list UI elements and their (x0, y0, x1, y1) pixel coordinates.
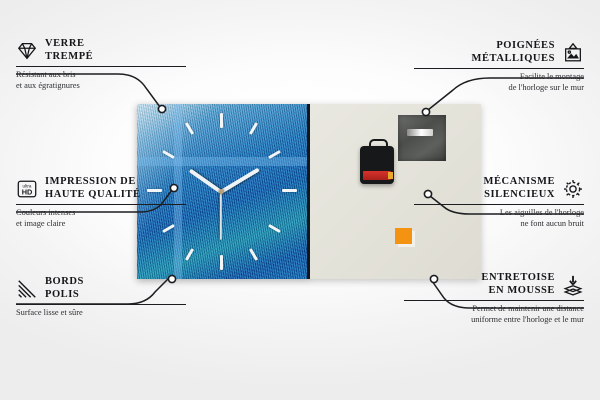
clock-tick (185, 248, 194, 261)
feature-bords-polis[interactable]: BORDS POLIS Surface lisse et sûre (16, 276, 186, 319)
divider (16, 66, 186, 67)
feature-title-line1: ENTRETOISE (481, 272, 555, 285)
hanger-slot (407, 129, 433, 136)
feature-title: ENTRETOISE EN MOUSSE (481, 272, 555, 297)
diamond-icon (16, 40, 38, 62)
feature-mecanisme-silencieux[interactable]: MÉCANISME SILENCIEUX Les aiguilles de l'… (414, 176, 584, 229)
feature-desc-line2: de l'horloge sur le mur (414, 83, 584, 93)
feature-header: BORDS POLIS (16, 276, 186, 301)
feature-title: VERRE TREMPÉ (45, 38, 93, 63)
feature-desc-line1: Permet de maintenir une distance (404, 304, 584, 314)
clock-tick (249, 248, 258, 261)
feature-title-line2: TREMPÉ (45, 51, 93, 64)
feature-description: Les aiguilles de l'horloge ne font aucun… (414, 208, 584, 229)
feature-title-line1: MÉCANISME (484, 176, 555, 189)
feature-desc-line2: et image claire (16, 219, 186, 229)
feature-verre-trempe[interactable]: VERRE TREMPÉ Résistant aux bris et aux é… (16, 38, 186, 91)
feature-title-line2: MÉTALLIQUES (472, 53, 555, 66)
polished-edge-icon (16, 278, 38, 300)
clock-tick (249, 122, 258, 135)
infographic-canvas: VERRE TREMPÉ Résistant aux bris et aux é… (0, 0, 600, 400)
feature-entretoise-mousse[interactable]: ENTRETOISE EN MOUSSE Permet de maintenir… (404, 272, 584, 325)
feature-desc-line2: ne font aucun bruit (414, 219, 584, 229)
feature-header: ultra HD IMPRESSION DE HAUTE QUALITÉ (16, 176, 186, 201)
feature-title: BORDS POLIS (45, 276, 84, 301)
foam-spacer (395, 228, 412, 244)
feature-description: Couleurs intenses et image claire (16, 208, 186, 229)
feature-desc-line2: et aux égratignures (16, 81, 186, 91)
feature-title-line2: POLIS (45, 289, 84, 302)
feature-desc-line1: Couleurs intenses (16, 208, 186, 218)
clock-tick (162, 150, 175, 159)
feature-description: Surface lisse et sûre (16, 308, 186, 318)
feature-title-line1: POIGNÉES (472, 40, 555, 53)
movement-hook (369, 139, 388, 150)
clock-tick (268, 150, 281, 159)
feature-title: MÉCANISME SILENCIEUX (484, 176, 555, 201)
feature-desc-line1: Surface lisse et sûre (16, 308, 186, 318)
clock-hand-minute (220, 168, 260, 194)
feature-desc-line1: Les aiguilles de l'horloge (414, 208, 584, 218)
feature-description: Résistant aux bris et aux égratignures (16, 70, 186, 91)
feature-description: Permet de maintenir une distance uniform… (404, 304, 584, 325)
wall-frame-icon (562, 42, 584, 64)
battery (363, 171, 391, 180)
clock-tick (268, 224, 281, 233)
feature-header: MÉCANISME SILENCIEUX (414, 176, 584, 201)
clock-tick (282, 189, 297, 192)
feature-desc-line1: Facilite le montage (414, 72, 584, 82)
clock-tick (220, 113, 223, 128)
metal-hanger-plate (398, 115, 446, 161)
feature-header: ENTRETOISE EN MOUSSE (404, 272, 584, 297)
gear-icon (562, 178, 584, 200)
divider (414, 68, 584, 69)
feature-description: Facilite le montage de l'horloge sur le … (414, 72, 584, 93)
divider (16, 304, 186, 305)
feature-title: IMPRESSION DE HAUTE QUALITÉ (45, 176, 141, 201)
feature-desc-line1: Résistant aux bris (16, 70, 186, 80)
feature-title: POIGNÉES MÉTALLIQUES (472, 40, 555, 65)
feature-title-line1: IMPRESSION DE (45, 176, 141, 189)
feature-title-line2: EN MOUSSE (481, 285, 555, 298)
clock-hand-hub (219, 189, 224, 194)
feature-header: VERRE TREMPÉ (16, 38, 186, 63)
divider (16, 204, 186, 205)
clock-hand-second (220, 192, 222, 240)
clock-tick (185, 122, 194, 135)
feature-header: POIGNÉES MÉTALLIQUES (414, 40, 584, 65)
feature-title-line1: BORDS (45, 276, 84, 289)
foam-spacer-icon (562, 274, 584, 296)
clock-movement (360, 146, 394, 184)
feature-title-line2: SILENCIEUX (484, 189, 555, 202)
clock-hand-hour (189, 169, 222, 194)
feature-poignees-metalliques[interactable]: POIGNÉES MÉTALLIQUES Facilite le montage… (414, 40, 584, 93)
feature-title-line2: HAUTE QUALITÉ (45, 189, 141, 202)
divider (404, 300, 584, 301)
ultra-hd-icon-bottom: HD (22, 187, 33, 196)
ultra-hd-icon: ultra HD (16, 178, 38, 200)
feature-title-line1: VERRE (45, 38, 93, 51)
divider (414, 204, 584, 205)
feature-desc-line2: uniforme entre l'horloge et le mur (404, 315, 584, 325)
feature-impression-hd[interactable]: ultra HD IMPRESSION DE HAUTE QUALITÉ Cou… (16, 176, 186, 229)
clock-tick (220, 255, 223, 270)
